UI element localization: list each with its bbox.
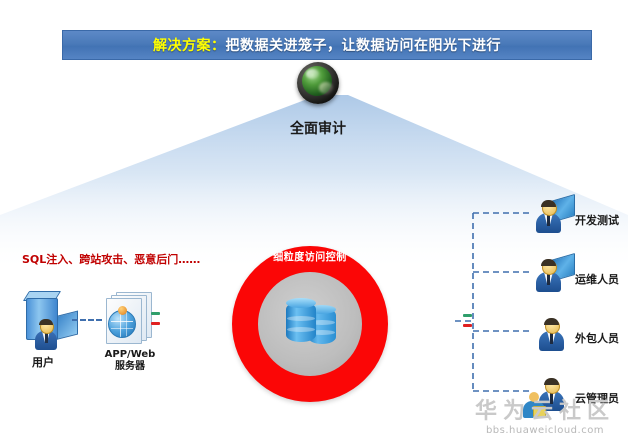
server-label-line1: APP/Web [92, 349, 168, 361]
deny-mark-right [463, 324, 472, 327]
title-banner: 解决方案：把数据关进笼子，让数据访问在阳光下进行 [62, 30, 592, 60]
role-tie-0 [547, 215, 550, 226]
slide-canvas: 解决方案：把数据关进笼子，让数据访问在阳光下进行 全面审计 SQL注入、跨站攻击… [0, 0, 628, 448]
user-label: 用户 [16, 354, 70, 370]
camera-lens-icon [297, 62, 339, 104]
avatar-tie [45, 333, 48, 343]
role-hair-2 [544, 318, 559, 325]
globe-marker [118, 306, 127, 315]
db-cylinder-front [286, 302, 316, 342]
db-front-line-2 [287, 327, 315, 332]
title-highlight: 解决方案： [153, 38, 226, 54]
threat-text: SQL注入、跨站攻击、恶意后门…… [22, 251, 200, 267]
watermark-brand: 华为云社区 [470, 400, 620, 424]
lens-highlight [306, 69, 319, 79]
allow-mark-right [463, 314, 472, 317]
deny-mark-left [151, 322, 160, 325]
watermark-url: bbs.huaweicloud.com [470, 424, 620, 438]
title-text: 解决方案：把数据关进笼子，让数据访问在阳光下进行 [153, 35, 501, 55]
db-cylinder-front-top [286, 298, 316, 308]
role-hair-3 [544, 378, 559, 385]
role-hair-0 [541, 200, 556, 207]
server-label-line2: 服务器 [92, 361, 168, 373]
avatar-hair [39, 319, 53, 325]
lens-glint [319, 82, 333, 94]
ring-label: 细粒度访问控制 [232, 248, 388, 264]
user-server-link [72, 319, 102, 321]
user-avatar [34, 320, 58, 350]
title-rest: 把数据关进笼子，让数据访问在阳光下进行 [226, 38, 502, 54]
role-icon-0 [533, 197, 573, 233]
role-icon-1 [533, 256, 573, 292]
allow-mark-left [151, 312, 160, 315]
watermark: 华为云社区 bbs.huaweicloud.com [470, 400, 620, 438]
role-icon-2 [536, 315, 576, 351]
role-hair-1 [541, 259, 556, 266]
server-label: APP/Web 服务器 [92, 349, 168, 373]
web-server-icon [100, 292, 158, 348]
database-cylinders-icon [286, 300, 338, 352]
user-pc-icon [16, 296, 82, 358]
role-label-2: 外包人员 [575, 330, 619, 346]
role-tie-1 [547, 274, 550, 285]
role-label-1: 运维人员 [575, 271, 619, 287]
audit-label: 全面审计 [268, 118, 368, 138]
role-label-0: 开发测试 [575, 212, 619, 228]
role-tie-2 [550, 333, 553, 344]
db-front-line-1 [287, 316, 315, 321]
